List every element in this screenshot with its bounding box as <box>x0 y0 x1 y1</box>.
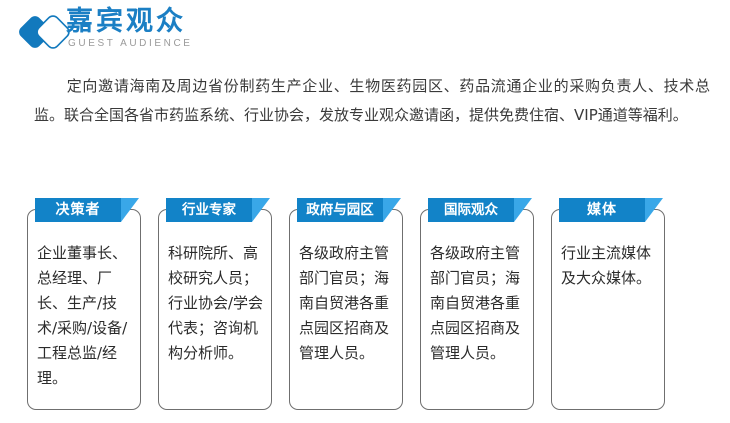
audience-card-body: 行业主流媒体及大众媒体。 <box>561 241 657 291</box>
page-header: 嘉宾观众 GUEST AUDIENCE <box>18 6 318 58</box>
audience-card-banner: 行业专家 <box>166 198 273 222</box>
page-title: 嘉宾观众 <box>66 6 316 37</box>
audience-card-title: 媒体 <box>559 198 645 222</box>
audience-card[interactable]: 各级政府主管部门官员；海南自贸港各重点园区招商及管理人员。 <box>289 209 403 410</box>
audience-card-title: 行业专家 <box>166 198 252 222</box>
audience-card-body: 各级政府主管部门官员；海南自贸港各重点园区招商及管理人员。 <box>299 241 395 366</box>
audience-card-title: 国际观众 <box>428 198 514 222</box>
audience-card-title: 决策者 <box>35 198 121 222</box>
page-subtitle: GUEST AUDIENCE <box>66 37 316 50</box>
audience-card[interactable]: 科研院所、高校研究人员；行业协会/学会代表；咨询机构分析师。 <box>158 209 272 410</box>
intro-paragraph: 定向邀请海南及周边省份制药生产企业、生物医药园区、药品流通企业的采购负责人、技术… <box>34 72 710 130</box>
audience-card-title: 政府与园区 <box>297 198 383 222</box>
audience-card[interactable]: 企业董事长、总经理、厂长、生产/技术/采购/设备/工程总监/经理。 <box>27 209 141 410</box>
audience-card[interactable]: 行业主流媒体及大众媒体。 <box>551 209 665 410</box>
audience-card-list: 企业董事长、总经理、厂长、生产/技术/采购/设备/工程总监/经理。 决策者 科研… <box>27 198 707 413</box>
audience-card-body: 企业董事长、总经理、厂长、生产/技术/采购/设备/工程总监/经理。 <box>37 241 133 391</box>
audience-card-banner: 决策者 <box>35 198 142 222</box>
audience-card-banner: 媒体 <box>559 198 666 222</box>
audience-card-banner: 国际观众 <box>428 198 535 222</box>
audience-card-banner: 政府与园区 <box>297 198 404 222</box>
audience-card[interactable]: 各级政府主管部门官员；海南自贸港各重点园区招商及管理人员。 <box>420 209 534 410</box>
audience-card-body: 科研院所、高校研究人员；行业协会/学会代表；咨询机构分析师。 <box>168 241 264 366</box>
intro-text: 定向邀请海南及周边省份制药生产企业、生物医药园区、药品流通企业的采购负责人、技术… <box>34 77 710 124</box>
audience-card-body: 各级政府主管部门官员；海南自贸港各重点园区招商及管理人员。 <box>430 241 526 366</box>
logo-text-block: 嘉宾观众 GUEST AUDIENCE <box>66 6 316 50</box>
